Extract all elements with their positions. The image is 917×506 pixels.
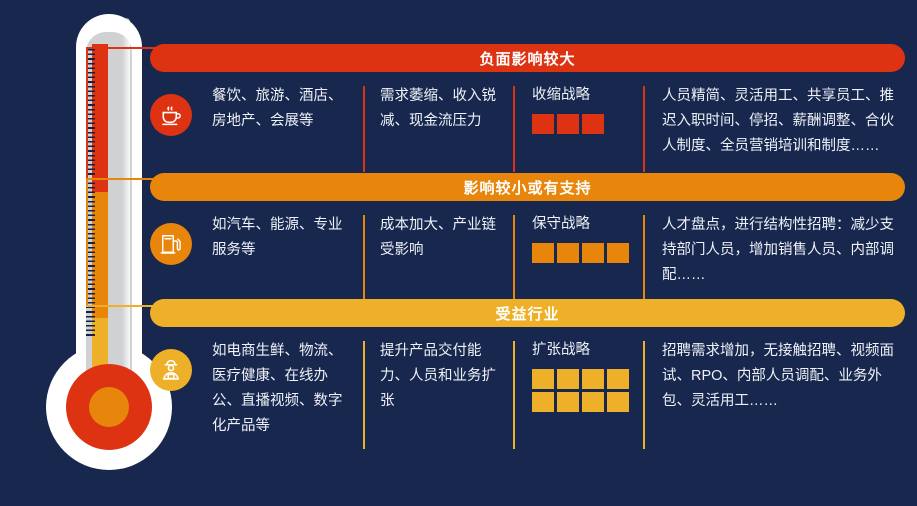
strategy-label: 收缩战略 [532, 84, 634, 106]
strategy-level-block [607, 243, 629, 263]
strategy-level-block [582, 392, 604, 412]
strategy-cell-3: 扩张战略 [514, 339, 644, 412]
strategy-level-block [582, 114, 604, 134]
industries-cell-3: 如电商生鲜、物流、医疗健康、在线办公、直播视频、数字化产品等 [208, 339, 364, 439]
strategy-level-block [532, 369, 554, 389]
infographic-canvas: 负面影响较大 餐饮、旅游、酒店、房地产、会展等 [0, 0, 917, 506]
icon-column-3 [150, 339, 208, 391]
strategy-cell-1: 收缩战略 [514, 84, 644, 134]
impact-text: 成本加大、产业链受影响 [380, 213, 504, 263]
impact-text: 需求萎缩、收入锐减、现金流压力 [380, 84, 504, 134]
industries-cell-1: 餐饮、旅游、酒店、房地产、会展等 [208, 84, 364, 134]
strategy-level-blocks-2 [532, 243, 630, 263]
strategy-level-block [557, 369, 579, 389]
strategy-level-block [532, 392, 554, 412]
coffee-cup-icon [150, 94, 192, 136]
section-body-2: 如汽车、能源、专业服务等 成本加大、产业链受影响 保守战略 人才盘点，进行结构性… [150, 201, 905, 288]
industries-text: 餐饮、旅游、酒店、房地产、会展等 [212, 84, 354, 134]
strategy-level-block [557, 392, 579, 412]
strategy-label: 扩张战略 [532, 339, 634, 361]
fuel-pump-icon [150, 223, 192, 265]
section-benefiting-industries: 受益行业 如电商生鲜、物流、医疗健康、在线办公、直播视频、数字化产品等 [150, 299, 905, 439]
section-header-2: 影响较小或有支持 [150, 173, 905, 201]
section-body-1: 餐饮、旅游、酒店、房地产、会展等 需求萎缩、收入锐减、现金流压力 收缩战略 人员… [150, 72, 905, 159]
strategy-level-block [582, 243, 604, 263]
section-negative-impact: 负面影响较大 餐饮、旅游、酒店、房地产、会展等 [150, 44, 905, 159]
impact-cell-3: 提升产品交付能力、人员和业务扩张 [364, 339, 514, 414]
strategy-level-block [557, 243, 579, 263]
strategy-cell-2: 保守战略 [514, 213, 644, 263]
actions-cell-1: 人员精简、灵活用工、共享员工、推迟入职时间、停招、薪酬调整、合伙人制度、全员营销… [644, 84, 905, 159]
thermometer-highlight [122, 18, 130, 396]
industries-text: 如电商生鲜、物流、医疗健康、在线办公、直播视频、数字化产品等 [212, 339, 354, 439]
actions-text: 招聘需求增加，无接触招聘、视频面试、RPO、内部人员调配、业务外包、灵活用工…… [662, 339, 899, 414]
section-body-3: 如电商生鲜、物流、医疗健康、在线办公、直播视频、数字化产品等 提升产品交付能力、… [150, 327, 905, 439]
thermometer-bulb-core [89, 387, 129, 427]
actions-cell-3: 招聘需求增加，无接触招聘、视频面试、RPO、内部人员调配、业务外包、灵活用工…… [644, 339, 905, 414]
strategy-level-blocks-3 [532, 369, 630, 412]
strategy-level-block [582, 369, 604, 389]
industries-cell-2: 如汽车、能源、专业服务等 [208, 213, 364, 263]
section-header-3: 受益行业 [150, 299, 905, 327]
connector-line-vertical-2 [86, 178, 88, 305]
impact-cell-2: 成本加大、产业链受影响 [364, 213, 514, 263]
strategy-level-block [557, 114, 579, 134]
section-header-1: 负面影响较大 [150, 44, 905, 72]
strategy-label: 保守战略 [532, 213, 634, 235]
strategy-level-block [607, 369, 629, 389]
strategy-level-block [532, 243, 554, 263]
strategy-level-block [607, 392, 629, 412]
connector-line-vertical-1 [86, 47, 88, 178]
delivery-worker-icon [150, 349, 192, 391]
icon-column-1 [150, 84, 208, 136]
section-minor-impact: 影响较小或有支持 如汽车、能源、专业服务等 成本加大、产 [150, 173, 905, 288]
actions-text: 人才盘点，进行结构性招聘：减少支持部门人员，增加销售人员、内部调配…… [662, 213, 899, 288]
impact-text: 提升产品交付能力、人员和业务扩张 [380, 339, 504, 414]
strategy-level-blocks-1 [532, 114, 630, 134]
actions-text: 人员精简、灵活用工、共享员工、推迟入职时间、停招、薪酬调整、合伙人制度、全员营销… [662, 84, 899, 159]
industries-text: 如汽车、能源、专业服务等 [212, 213, 354, 263]
strategy-level-block [532, 114, 554, 134]
impact-cell-1: 需求萎缩、收入锐减、现金流压力 [364, 84, 514, 134]
actions-cell-2: 人才盘点，进行结构性招聘：减少支持部门人员，增加销售人员、内部调配…… [644, 213, 905, 288]
icon-column-2 [150, 213, 208, 265]
